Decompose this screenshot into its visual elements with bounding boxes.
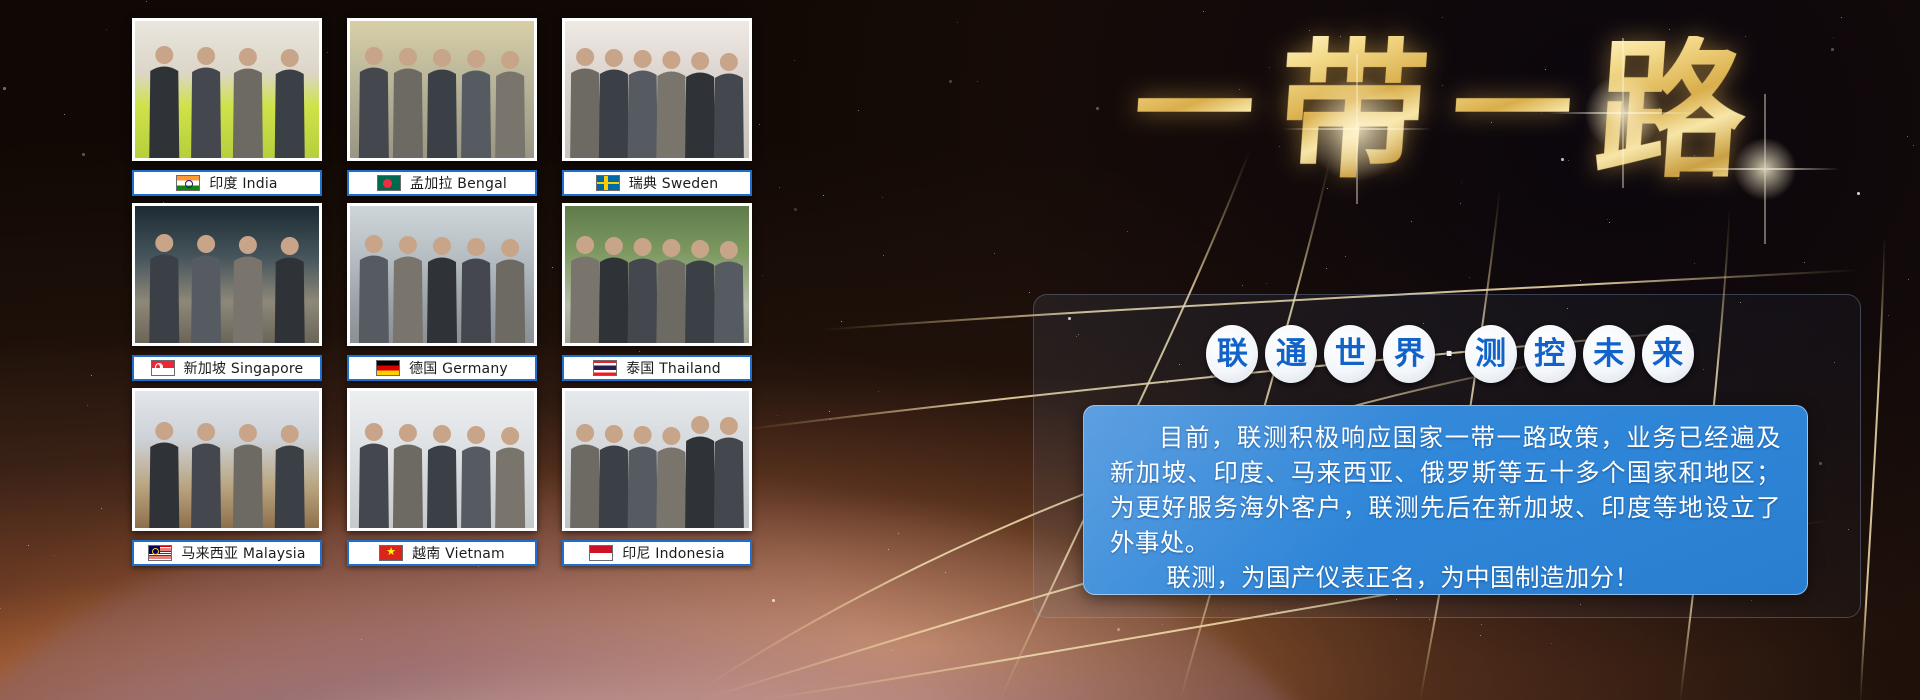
country-label: 印度 India (209, 173, 277, 193)
gallery-item: 新加坡 Singapore (132, 203, 322, 388)
gallery-item: 泰国 Thailand (562, 203, 752, 388)
country-label: 印尼 Indonesia (622, 543, 725, 563)
slogan-char-jie: 界 (1383, 325, 1435, 383)
slogan-char-tong: 通 (1265, 325, 1317, 383)
country-label: 德国 Germany (409, 358, 508, 378)
gallery-item: 瑞典 Sweden (562, 18, 752, 203)
gallery-item: 孟加拉 Bengal (347, 18, 537, 203)
slogan-row: 联 通 世 界 · 测 控 未 来 (1155, 325, 1745, 383)
title-char-4: 路 (1591, 36, 1752, 186)
country-label: 马来西亚 Malaysia (181, 543, 305, 563)
photo-people (565, 21, 749, 158)
photo-people (350, 391, 534, 528)
country-photo (347, 203, 537, 346)
title-char-1: 一 (1130, 51, 1258, 171)
description-paragraph-2: 联测，为国产仪表正名，为中国制造加分！ (1110, 560, 1781, 595)
gallery-item: 越南 Vietnam (347, 388, 537, 573)
country-caption[interactable]: 孟加拉 Bengal (347, 170, 537, 196)
photo-people (135, 21, 319, 158)
photo-people (135, 206, 319, 343)
country-caption[interactable]: 印度 India (132, 170, 322, 196)
country-photo (562, 388, 752, 531)
slogan-char-kong: 控 (1524, 325, 1576, 383)
country-caption[interactable]: 泰国 Thailand (562, 355, 752, 381)
banner-root: 印度 India孟加拉 Bengal瑞典 Sweden新加坡 Singapore… (0, 0, 1920, 700)
flag-vietnam-icon (379, 545, 403, 561)
country-label: 越南 Vietnam (412, 543, 505, 563)
title-char-2: 带 (1273, 36, 1434, 186)
flag-bangladesh-icon (377, 175, 401, 191)
flag-germany-icon (376, 360, 400, 376)
slogan-char-wei: 未 (1583, 325, 1635, 383)
country-caption[interactable]: 瑞典 Sweden (562, 170, 752, 196)
photo-people (565, 391, 749, 528)
flag-thailand-icon (593, 360, 617, 376)
slogan-separator: · (1442, 337, 1457, 371)
flag-india-icon (176, 175, 200, 191)
country-caption[interactable]: 德国 Germany (347, 355, 537, 381)
photo-people (350, 206, 534, 343)
flag-malaysia-icon (148, 545, 172, 561)
country-label: 孟加拉 Bengal (410, 173, 507, 193)
photo-gallery: 印度 India孟加拉 Bengal瑞典 Sweden新加坡 Singapore… (132, 18, 772, 573)
country-label: 瑞典 Sweden (629, 173, 719, 193)
country-label: 泰国 Thailand (626, 358, 721, 378)
country-caption[interactable]: 印尼 Indonesia (562, 540, 752, 566)
photo-people (350, 21, 534, 158)
description-paragraph-1: 目前，联测积极响应国家一带一路政策，业务已经遍及新加坡、印度、马来西亚、俄罗斯等… (1110, 420, 1781, 560)
country-photo (132, 18, 322, 161)
gallery-item: 印度 India (132, 18, 322, 203)
photo-people (135, 391, 319, 528)
description-box: 目前，联测积极响应国家一带一路政策，业务已经遍及新加坡、印度、马来西亚、俄罗斯等… (1083, 405, 1808, 595)
slogan-char-lian: 联 (1206, 325, 1258, 383)
flag-singapore-icon (151, 360, 175, 376)
flag-sweden-icon (596, 175, 620, 191)
gallery-item: 印尼 Indonesia (562, 388, 752, 573)
country-photo (347, 388, 537, 531)
slogan-char-shi: 世 (1324, 325, 1376, 383)
slogan-char-lai: 来 (1642, 325, 1694, 383)
title-char-3: 一 (1448, 51, 1576, 171)
country-label: 新加坡 Singapore (184, 358, 304, 378)
country-photo (562, 18, 752, 161)
slogan-char-ce: 测 (1465, 325, 1517, 383)
country-caption[interactable]: 越南 Vietnam (347, 540, 537, 566)
gallery-item: 德国 Germany (347, 203, 537, 388)
flag-indonesia-icon (589, 545, 613, 561)
country-caption[interactable]: 马来西亚 Malaysia (132, 540, 322, 566)
country-photo (562, 203, 752, 346)
country-caption[interactable]: 新加坡 Singapore (132, 355, 322, 381)
country-photo (132, 388, 322, 531)
gallery-item: 马来西亚 Malaysia (132, 388, 322, 573)
country-photo (132, 203, 322, 346)
photo-people (565, 206, 749, 343)
country-photo (347, 18, 537, 161)
page-title: 一 带 一 路 (1020, 6, 1860, 216)
